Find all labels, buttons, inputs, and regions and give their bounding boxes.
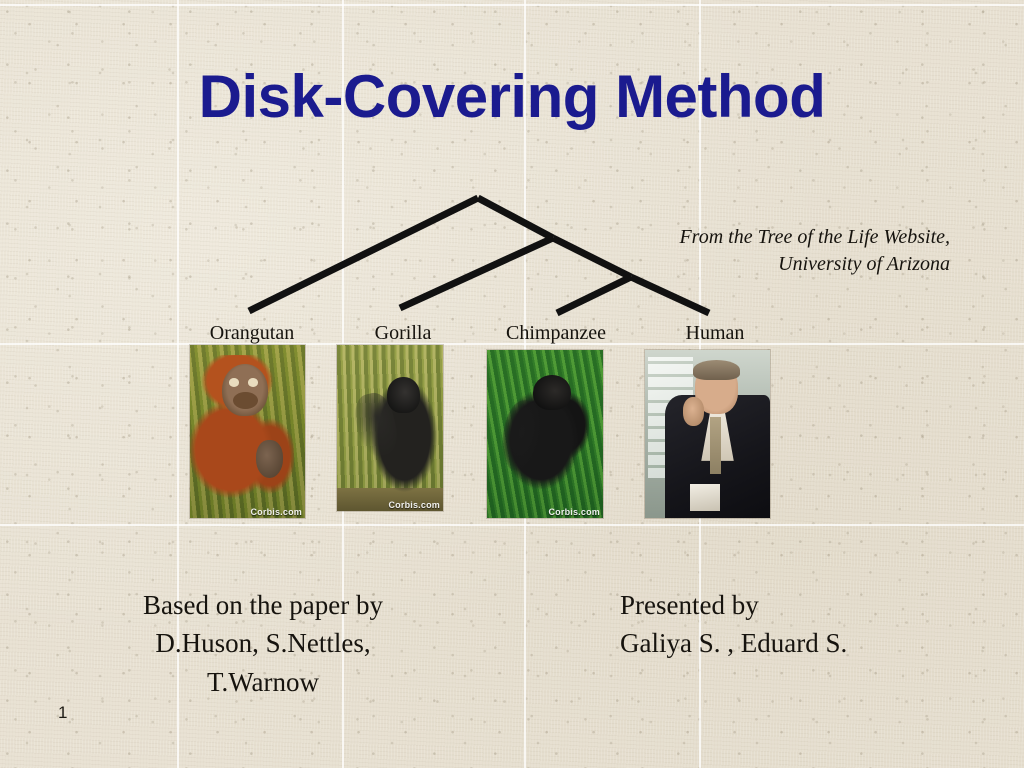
tree-branch-human <box>631 277 709 313</box>
photo-human-hand <box>683 397 704 426</box>
photo-chimpanzee-head <box>533 375 570 410</box>
slide-number: 1 <box>58 703 67 723</box>
tree-branch-orangutan <box>249 198 478 311</box>
source-credit: From the Tree of the Life Website, Unive… <box>610 224 950 278</box>
photo-chimpanzee: Corbis.com <box>487 350 603 518</box>
photo-chimpanzee-watermark: Corbis.com <box>548 507 600 517</box>
paper-attribution-line-3: T.Warnow <box>78 663 448 701</box>
photo-gorilla-watermark: Corbis.com <box>388 500 440 510</box>
tree-branch-chimpanzee <box>557 277 631 313</box>
paper-attribution-line-2: D.Huson, S.Nettles, <box>78 624 448 662</box>
presentation-slide: Disk-Covering Method From the Tree of th… <box>0 0 1024 768</box>
photo-orangutan: Corbis.com <box>190 345 305 518</box>
photo-orangutan-hand <box>256 440 284 478</box>
tree-branch-gorilla <box>400 238 553 308</box>
presenter-attribution: Presented by Galiya S. , Eduard S. <box>620 586 1000 663</box>
photo-orangutan-eye-left <box>229 378 239 387</box>
photo-orangutan-muzzle <box>233 392 258 409</box>
photo-gorilla-head <box>387 377 420 414</box>
photo-orangutan-watermark: Corbis.com <box>250 507 302 517</box>
presenter-attribution-line-1: Presented by <box>620 586 1000 624</box>
photo-human-hair <box>693 360 741 380</box>
presenter-attribution-line-2: Galiya S. , Eduard S. <box>620 624 1000 662</box>
leaf-label-human: Human <box>686 322 745 345</box>
leaf-label-gorilla: Gorilla <box>375 322 432 345</box>
source-credit-line-2: University of Arizona <box>610 251 950 278</box>
photo-gorilla: Corbis.com <box>337 345 443 511</box>
tree-branch-root-right <box>478 198 553 238</box>
leaf-label-orangutan: Orangutan <box>210 322 294 345</box>
leaf-label-chimpanzee: Chimpanzee <box>506 322 606 345</box>
photo-human-tie <box>710 417 721 474</box>
paper-attribution: Based on the paper by D.Huson, S.Nettles… <box>78 586 448 701</box>
photo-human-paper <box>690 484 720 511</box>
photo-orangutan-eye-right <box>248 378 258 387</box>
source-credit-line-1: From the Tree of the Life Website, <box>610 224 950 251</box>
photo-human <box>645 350 770 518</box>
paper-attribution-line-1: Based on the paper by <box>78 586 448 624</box>
